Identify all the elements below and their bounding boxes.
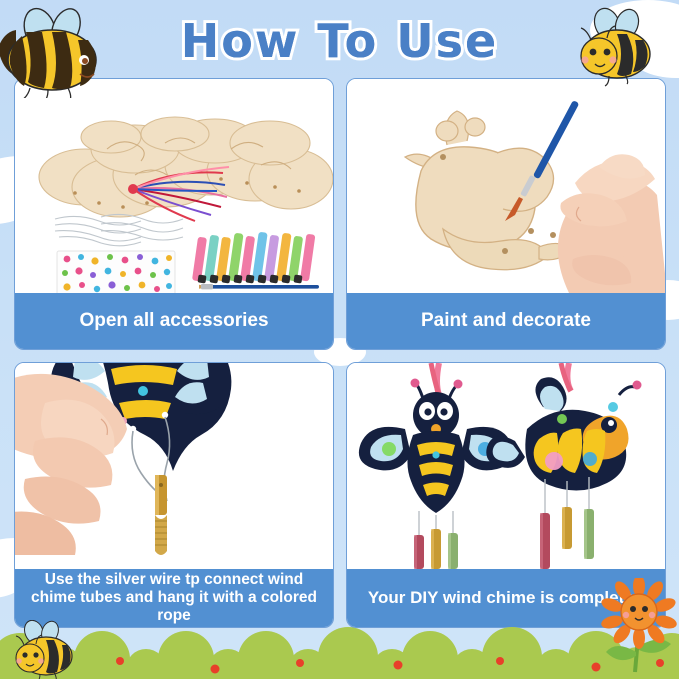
step-3-photo [15, 363, 333, 569]
step-4-photo [347, 363, 665, 569]
step-2-photo [347, 79, 665, 293]
finished-chimes-illustration [347, 363, 665, 569]
step-2-caption: Paint and decorate [347, 293, 665, 349]
bee-bottom-left-icon [8, 620, 82, 679]
step-card-3: Use the silver wire tp connect wind chim… [14, 362, 334, 628]
poster: How To Use How To Use [0, 0, 679, 679]
accessories-illustration [15, 79, 333, 293]
step-3-caption: Use the silver wire tp connect wind chim… [15, 569, 333, 627]
step-card-1: Open all accessories [14, 78, 334, 350]
grass-bushes [0, 621, 679, 679]
sunflower-icon [600, 578, 678, 676]
step-1-caption: Open all accessories [15, 293, 333, 349]
wire-assembly-illustration [15, 363, 333, 569]
step-1-photo [15, 79, 333, 293]
bee-top-right-icon [565, 6, 657, 90]
painting-illustration [347, 79, 665, 293]
step-card-2: Paint and decorate [346, 78, 666, 350]
bee-top-left-icon [0, 2, 110, 98]
